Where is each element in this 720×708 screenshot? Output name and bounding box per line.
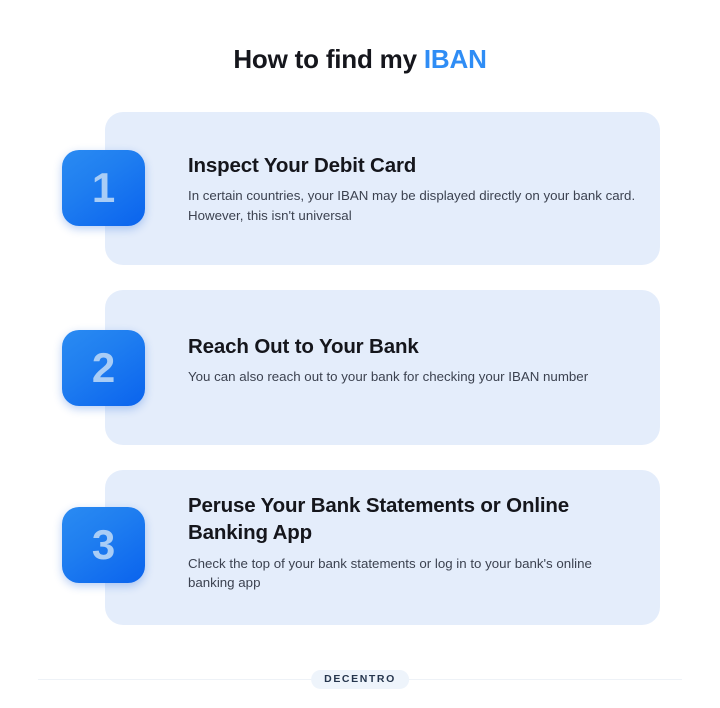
step-row-2: 2 Reach Out to Your Bank You can also re…	[0, 290, 720, 445]
step-number-2: 2	[92, 347, 115, 389]
page-title: How to find my IBAN	[0, 44, 720, 75]
infographic-page: How to find my IBAN 1 Inspect Your Debit…	[0, 0, 720, 708]
step-content-2: Reach Out to Your Bank You can also reac…	[188, 333, 638, 387]
step-text-1: In certain countries, your IBAN may be d…	[188, 186, 638, 225]
decentro-logo: DECENTRO	[311, 670, 409, 689]
page-title-accent: IBAN	[424, 44, 487, 74]
step-row-1: 1 Inspect Your Debit Card In certain cou…	[0, 112, 720, 265]
step-text-2: You can also reach out to your bank for …	[188, 367, 638, 387]
step-heading-1: Inspect Your Debit Card	[188, 152, 638, 179]
step-number-badge-1: 1	[62, 150, 145, 226]
step-content-1: Inspect Your Debit Card In certain count…	[188, 152, 638, 226]
step-number-badge-3: 3	[62, 507, 145, 583]
step-heading-2: Reach Out to Your Bank	[188, 333, 638, 360]
step-heading-3: Peruse Your Bank Statements or Online Ba…	[188, 492, 638, 547]
step-content-3: Peruse Your Bank Statements or Online Ba…	[188, 492, 638, 593]
page-title-lead: How to find my	[233, 44, 424, 74]
step-number-badge-2: 2	[62, 330, 145, 406]
step-row-3: 3 Peruse Your Bank Statements or Online …	[0, 470, 720, 625]
step-number-3: 3	[92, 524, 115, 566]
decentro-logo-text: DECENTRO	[324, 674, 396, 685]
steps-list: 1 Inspect Your Debit Card In certain cou…	[0, 112, 720, 650]
step-number-1: 1	[92, 167, 115, 209]
step-text-3: Check the top of your bank statements or…	[188, 554, 638, 593]
